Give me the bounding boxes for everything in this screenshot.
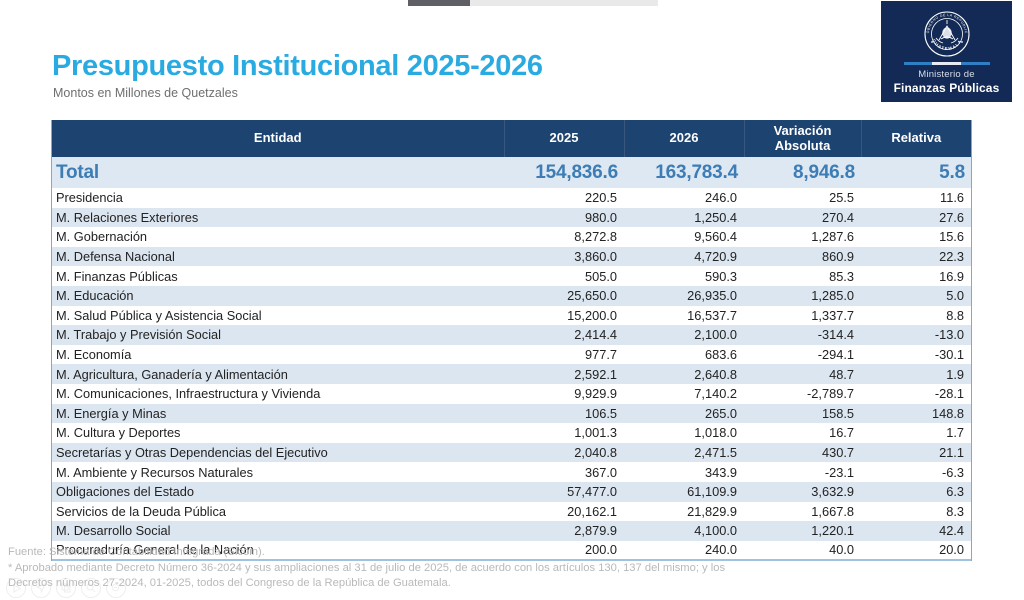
cell-2026: 4,100.0 [624,521,744,541]
cell-2026: 1,250.4 [624,208,744,228]
cell-entidad: M. Comunicaciones, Infraestructura y Viv… [52,384,504,404]
col-header-2025[interactable]: 2025 [504,120,624,157]
col-header-variacion-line2: Absoluta [745,139,861,153]
cell-entidad: M. Economía [52,345,504,365]
horizontal-scrollbar-thumb[interactable] [408,0,470,6]
cell-2026: 590.3 [624,266,744,286]
footnote-line-3: Decretos números 27-2024, 01-2025, todos… [8,576,868,592]
cell-2026: 246.0 [624,188,744,208]
cell-2026: 2,640.8 [624,364,744,384]
cell-2025: 977.7 [504,345,624,365]
cell-2025: 220.5 [504,188,624,208]
ministry-logo: GOBIERNO DE LA REPUBLICA GUATEMALA [881,1,1012,102]
cell-absoluta: 85.3 [744,266,861,286]
table-row-total[interactable]: Total154,836.6163,783.48,946.85.8 [52,157,971,188]
guatemala-seal-icon: GOBIERNO DE LA REPUBLICA GUATEMALA [921,8,973,60]
cell-entidad: M. Energía y Minas [52,404,504,424]
cell-2025: 3,860.0 [504,247,624,267]
cell-2025: 2,879.9 [504,521,624,541]
cell-entidad: M. Gobernación [52,227,504,247]
cell-entidad: Secretarías y Otras Dependencias del Eje… [52,443,504,463]
cell-absoluta: 48.7 [744,364,861,384]
table-row[interactable]: M. Desarrollo Social2,879.94,100.01,220.… [52,521,971,541]
table-row[interactable]: M. Agricultura, Ganadería y Alimentación… [52,364,971,384]
cell-entidad: Obligaciones del Estado [52,482,504,502]
table-row[interactable]: M. Salud Pública y Asistencia Social15,2… [52,306,971,326]
cell-entidad: M. Trabajo y Previsión Social [52,325,504,345]
cell-absoluta: 860.9 [744,247,861,267]
cell-absoluta: 1,337.7 [744,306,861,326]
cell-absoluta: 270.4 [744,208,861,228]
cell-2025: 2,414.4 [504,325,624,345]
cell-2025: 1,001.3 [504,423,624,443]
cell-entidad: M. Agricultura, Ganadería y Alimentación [52,364,504,384]
cell-absoluta: -314.4 [744,325,861,345]
cell-2026: 683.6 [624,345,744,365]
table-row[interactable]: M. Trabajo y Previsión Social2,414.42,10… [52,325,971,345]
cell-2025: 154,836.6 [504,157,624,188]
cell-entidad: M. Relaciones Exteriores [52,208,504,228]
table-row[interactable]: M. Relaciones Exteriores980.01,250.4270.… [52,208,971,228]
cell-absoluta: -23.1 [744,462,861,482]
search-icon[interactable] [81,578,101,598]
table-row[interactable]: M. Finanzas Públicas505.0590.385.316.9 [52,266,971,286]
cell-relativa: 21.1 [861,443,971,463]
cell-entidad: M. Cultura y Deportes [52,423,504,443]
cell-relativa: 27.6 [861,208,971,228]
table-row[interactable]: M. Cultura y Deportes1,001.31,018.016.71… [52,423,971,443]
logo-color-bar [904,62,990,65]
table-header-row: Entidad 2025 2026 Variación Absoluta Rel… [52,120,971,157]
copy-icon[interactable] [56,578,76,598]
cell-2025: 2,592.1 [504,364,624,384]
table-row[interactable]: M. Educación25,650.026,935.01,285.05.0 [52,286,971,306]
table-row[interactable]: Obligaciones del Estado57,477.061,109.93… [52,482,971,502]
cell-2026: 21,829.9 [624,502,744,522]
cell-2025: 25,650.0 [504,286,624,306]
cell-relativa: 1.7 [861,423,971,443]
cell-relativa: 11.6 [861,188,971,208]
cell-2025: 8,272.8 [504,227,624,247]
cell-2026: 61,109.9 [624,482,744,502]
cell-2025: 20,162.1 [504,502,624,522]
logo-line-2: Finanzas Públicas [894,81,1000,95]
cell-entidad: Total [52,157,504,188]
page-title: Presupuesto Institucional 2025-2026 [52,50,543,83]
budget-table-container: Entidad 2025 2026 Variación Absoluta Rel… [51,120,972,561]
cell-entidad: M. Finanzas Públicas [52,266,504,286]
cell-2026: 26,935.0 [624,286,744,306]
cell-relativa: -28.1 [861,384,971,404]
cell-relativa: 5.8 [861,157,971,188]
table-row[interactable]: Servicios de la Deuda Pública20,162.121,… [52,502,971,522]
cell-2026: 1,018.0 [624,423,744,443]
cell-entidad: M. Salud Pública y Asistencia Social [52,306,504,326]
table-row[interactable]: M. Economía977.7683.6-294.1-30.1 [52,345,971,365]
cell-relativa: -13.0 [861,325,971,345]
page-subtitle: Montos en Millones de Quetzales [53,86,238,100]
cell-entidad: Servicios de la Deuda Pública [52,502,504,522]
cell-2025: 2,040.8 [504,443,624,463]
cell-entidad: M. Defensa Nacional [52,247,504,267]
cell-2026: 2,471.5 [624,443,744,463]
cell-2026: 4,720.9 [624,247,744,267]
footnotes: Fuente: Sistema de Contabilidad Integrad… [8,545,868,592]
cell-absoluta: 16.7 [744,423,861,443]
cell-relativa: 42.4 [861,521,971,541]
cell-2026: 2,100.0 [624,325,744,345]
cell-absoluta: -294.1 [744,345,861,365]
cell-relativa: 20.0 [861,541,971,561]
table-row[interactable]: M. Ambiente y Recursos Naturales367.0343… [52,462,971,482]
col-header-2026[interactable]: 2026 [624,120,744,157]
cell-2025: 15,200.0 [504,306,624,326]
cell-entidad: M. Desarrollo Social [52,521,504,541]
cell-2025: 980.0 [504,208,624,228]
cell-relativa: 1.9 [861,364,971,384]
svg-text:GUATEMALA: GUATEMALA [931,38,963,51]
cell-2026: 16,537.7 [624,306,744,326]
horizontal-scrollbar-track[interactable] [408,0,658,6]
cell-2025: 9,929.9 [504,384,624,404]
table-header: Entidad 2025 2026 Variación Absoluta Rel… [52,120,971,157]
cell-absoluta: 1,287.6 [744,227,861,247]
cell-2025: 367.0 [504,462,624,482]
cell-relativa: 8.3 [861,502,971,522]
cell-relativa: 148.8 [861,404,971,424]
cell-2025: 57,477.0 [504,482,624,502]
cell-2026: 343.9 [624,462,744,482]
cell-relativa: 5.0 [861,286,971,306]
cell-absoluta: 3,632.9 [744,482,861,502]
cell-absoluta: 1,285.0 [744,286,861,306]
col-header-variacion-line1: Variación [745,124,861,138]
cell-entidad: M. Ambiente y Recursos Naturales [52,462,504,482]
logo-line-1: Ministerio de [918,69,974,80]
cell-absoluta: 25.5 [744,188,861,208]
cell-relativa: -6.3 [861,462,971,482]
col-header-variacion-absoluta[interactable]: Variación Absoluta [744,120,861,157]
cell-absoluta: 158.5 [744,404,861,424]
cell-2026: 265.0 [624,404,744,424]
watermark-toolbar [6,578,126,598]
cell-2026: 9,560.4 [624,227,744,247]
table-row[interactable]: Secretarías y Otras Dependencias del Eje… [52,443,971,463]
share-icon[interactable] [31,578,51,598]
cell-relativa: -30.1 [861,345,971,365]
table-row[interactable]: M. Gobernación8,272.89,560.41,287.615.6 [52,227,971,247]
zoom-icon[interactable] [106,578,126,598]
table-row[interactable]: Presidencia220.5246.025.511.6 [52,188,971,208]
cell-absoluta: 1,667.8 [744,502,861,522]
budget-table: Entidad 2025 2026 Variación Absoluta Rel… [52,120,971,561]
cell-absoluta: -2,789.7 [744,384,861,404]
cell-2025: 106.5 [504,404,624,424]
cell-relativa: 6.3 [861,482,971,502]
play-icon[interactable] [6,578,26,598]
cell-relativa: 22.3 [861,247,971,267]
table-row[interactable]: M. Comunicaciones, Infraestructura y Viv… [52,384,971,404]
table-body: Total154,836.6163,783.48,946.85.8Preside… [52,157,971,560]
cell-entidad: M. Educación [52,286,504,306]
footnote-line-2: * Aprobado mediante Decreto Número 36-20… [8,561,868,577]
cell-entidad: Presidencia [52,188,504,208]
table-row[interactable]: M. Energía y Minas106.5265.0158.5148.8 [52,404,971,424]
col-header-entidad[interactable]: Entidad [52,120,504,157]
cell-absoluta: 1,220.1 [744,521,861,541]
cell-relativa: 16.9 [861,266,971,286]
table-row[interactable]: M. Defensa Nacional3,860.04,720.9860.922… [52,247,971,267]
footnote-source: Fuente: Sistema de Contabilidad Integrad… [8,545,868,561]
cell-2026: 163,783.4 [624,157,744,188]
cell-absoluta: 430.7 [744,443,861,463]
col-header-relativa[interactable]: Relativa [861,120,971,157]
cell-relativa: 15.6 [861,227,971,247]
cell-relativa: 8.8 [861,306,971,326]
cell-absoluta: 8,946.8 [744,157,861,188]
cell-2025: 505.0 [504,266,624,286]
cell-2026: 7,140.2 [624,384,744,404]
document-page: GOBIERNO DE LA REPUBLICA GUATEMALA [0,0,1024,600]
